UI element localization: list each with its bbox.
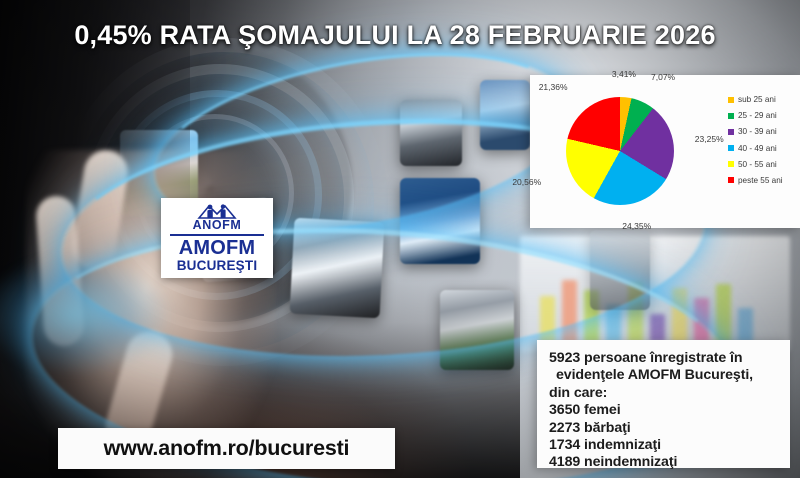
stats-line-uncompensated: 4189 neindemnizaţi (549, 454, 790, 471)
logo-bucuresti-text: BUCUREŞTI (161, 259, 273, 273)
legend-swatch-icon (728, 145, 734, 151)
pie-label-1: 7,07% (651, 72, 675, 82)
legend-item-1[interactable]: 25 - 29 ani (728, 111, 800, 120)
legend-label: 25 - 29 ani (738, 111, 777, 120)
legend-item-0[interactable]: sub 25 ani (728, 95, 800, 104)
legend-item-2[interactable]: 30 - 39 ani (728, 127, 800, 136)
pie-disc (566, 97, 674, 205)
stats-line-3: din care: (549, 385, 790, 402)
logo-amofm-text: AMOFM (161, 238, 273, 259)
legend-item-5[interactable]: peste 55 ani (728, 176, 800, 185)
pie-label-0: 3,41% (612, 69, 636, 79)
legend-item-4[interactable]: 50 - 55 ani (728, 160, 800, 169)
legend-item-3[interactable]: 40 - 49 ani (728, 144, 800, 153)
chart-legend: sub 25 ani25 - 29 ani30 - 39 ani40 - 49 … (728, 95, 800, 192)
stats-line-compensated: 1734 indemnizaţi (549, 437, 790, 454)
poster-canvas: 0,45% RATA ŞOMAJULUI LA 28 FEBRUARIE 202… (0, 0, 800, 478)
legend-label: 50 - 55 ani (738, 160, 777, 169)
legend-label: sub 25 ani (738, 95, 776, 104)
legend-label: 40 - 49 ani (738, 144, 777, 153)
pie-label-3: 24,35% (622, 221, 651, 231)
age-distribution-chart-card: 3,41%7,07%23,25%24,35%20,56%21,36% sub 2… (530, 75, 800, 228)
website-banner[interactable]: www.anofm.ro/bucuresti (58, 428, 395, 469)
page-title: 0,45% RATA ŞOMAJULUI LA 28 FEBRUARIE 202… (0, 20, 790, 51)
logo-anofm-text: ANOFM (161, 219, 273, 231)
stats-line-men: 2273 bărbaţi (549, 420, 790, 437)
website-url[interactable]: www.anofm.ro/bucuresti (104, 436, 350, 461)
legend-swatch-icon (728, 129, 734, 135)
stats-line-2: evidenţele AMOFM Bucureşti, (549, 367, 790, 384)
legend-swatch-icon (728, 161, 734, 167)
amofm-logo: ANOFM AMOFM BUCUREŞTI (161, 198, 273, 278)
legend-label: 30 - 39 ani (738, 127, 777, 136)
pie-label-5: 21,36% (539, 82, 568, 92)
stats-line-1: 5923 persoane înregistrate în (549, 350, 790, 367)
legend-swatch-icon (728, 113, 734, 119)
statistics-card: 5923 persoane înregistrate în evidenţele… (537, 340, 790, 468)
logo-divider (170, 234, 264, 236)
pie-label-4: 20,56% (512, 177, 541, 187)
anofm-people-icon (161, 202, 273, 219)
legend-swatch-icon (728, 97, 734, 103)
pie-chart (566, 97, 674, 205)
legend-swatch-icon (728, 177, 734, 183)
legend-label: peste 55 ani (738, 176, 783, 185)
pie-label-2: 23,25% (695, 134, 724, 144)
stats-line-women: 3650 femei (549, 402, 790, 419)
